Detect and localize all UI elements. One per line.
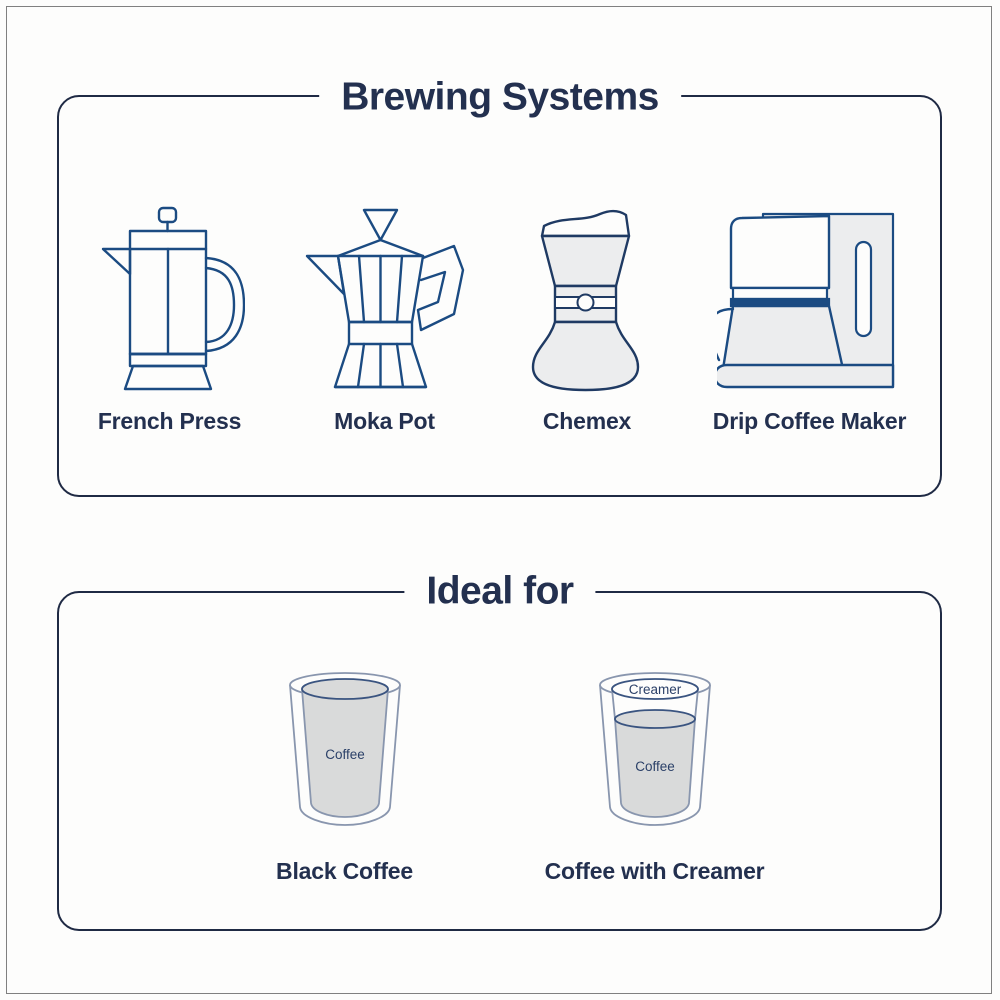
ideal-for-item-row: Coffee Black Coffee Creamer [57,650,942,885]
brewing-item-label: Drip Coffee Maker [713,408,906,435]
cup-layer-label: Coffee [635,759,675,774]
ideal-for-title: Ideal for [404,572,595,611]
black-coffee-art: Coffee [275,667,415,832]
brewing-systems-item-row: French Press [57,175,942,435]
brewing-item-french-press[interactable]: French Press [62,202,277,435]
moka-pot-icon [302,202,467,392]
chemex-icon [530,202,645,392]
drip-coffee-maker-icon [717,202,902,392]
brewing-systems-title: Brewing Systems [319,78,681,117]
ideal-item-coffee-with-creamer[interactable]: Creamer Coffee Coffee with Creamer [500,667,810,885]
black-coffee-cup-icon: Coffee [275,667,415,832]
ideal-item-black-coffee[interactable]: Coffee Black Coffee [190,667,500,885]
infographic-page: Brewing Systems [0,0,1000,1000]
moka-pot-art [302,202,467,392]
brewing-item-chemex[interactable]: Chemex [492,202,682,435]
brewing-item-moka-pot[interactable]: Moka Pot [277,202,492,435]
ideal-item-label: Black Coffee [276,858,413,885]
ideal-item-label: Coffee with Creamer [545,858,765,885]
cup-layer-label: Creamer [628,682,681,697]
coffee-with-creamer-art: Creamer Coffee [585,667,725,832]
chemex-art [530,202,645,392]
french-press-art [95,202,245,392]
brewing-item-label: Moka Pot [334,408,435,435]
drip-coffee-maker-art [717,202,902,392]
brewing-item-drip-coffee-maker[interactable]: Drip Coffee Maker [682,202,937,435]
brewing-item-label: French Press [98,408,241,435]
french-press-icon [95,202,245,392]
brewing-item-label: Chemex [543,408,631,435]
coffee-with-creamer-cup-icon: Creamer Coffee [585,667,725,832]
cup-layer-label: Coffee [325,747,365,762]
